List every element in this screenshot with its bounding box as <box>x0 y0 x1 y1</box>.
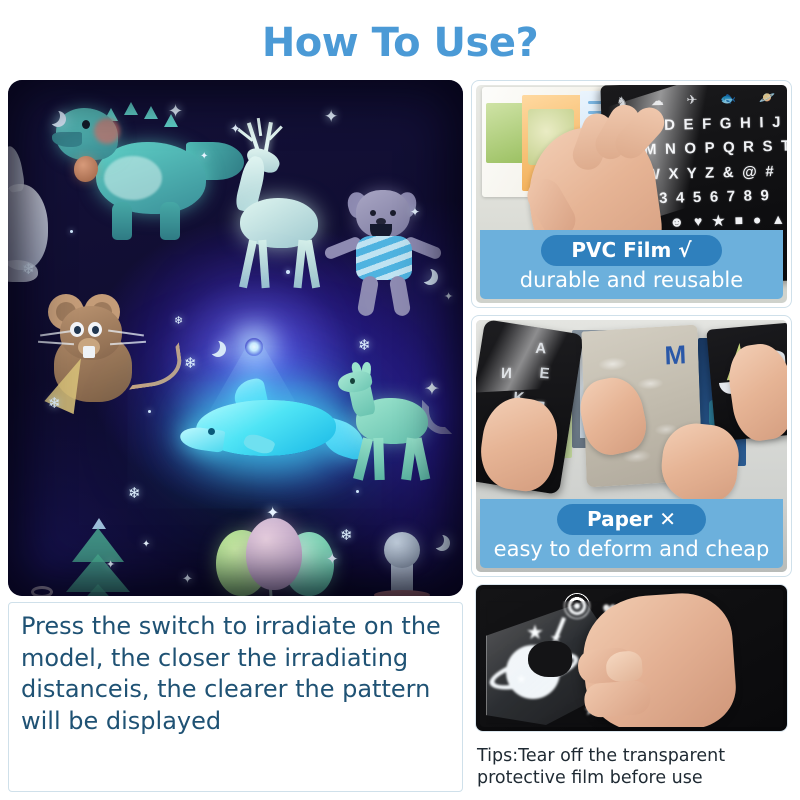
gift-bow-shape <box>31 586 53 596</box>
dinosaur-cheek-shape <box>94 118 120 144</box>
stamp-rim-shape <box>374 590 430 596</box>
pvc-film-photo: ♞ ☁ ✈ 🐟 🪐 A B C D E F G H I J K L M N O … <box>476 85 787 303</box>
green-box-shape <box>486 103 524 163</box>
star-icon: ✦ <box>444 292 453 303</box>
mouse-pupil-shape <box>92 326 99 334</box>
star-icon: ✦ <box>230 122 241 135</box>
paper-letter-m: M <box>664 339 687 371</box>
led-light-source <box>245 338 263 356</box>
dolphin-snout-shape <box>179 425 226 453</box>
page-title: How To Use? <box>0 0 800 72</box>
deer-leg-shape <box>304 240 320 289</box>
mouse-tail-shape <box>123 342 184 389</box>
pvc-film-panel: ♞ ☁ ✈ 🐟 🪐 A B C D E F G H I J K L M N O … <box>471 80 792 308</box>
snowflake-icon: ❄ <box>128 486 141 501</box>
finger-shape <box>583 680 651 719</box>
paper-label-band: Paper ✕ easy to deform and cheap <box>480 499 783 568</box>
star-icon: ✦ <box>142 540 150 550</box>
left-column: ❄ ❄ ❄ ❄ ❄ ❄ ❄ ❄ ✦ ✦ ✦ ✦ ✦ ✦ ✦ ✦ ✦ ✦ ✦ ✦ … <box>8 80 463 792</box>
dog-eye-shape <box>370 210 376 216</box>
dog-shirt-shape <box>356 236 412 280</box>
mouse-tooth-shape <box>83 346 95 358</box>
horse-leg-shape <box>373 438 384 480</box>
cloud-icon: ☁ <box>651 93 664 106</box>
snowflake-icon: ❄ <box>340 528 353 543</box>
horse-leg-shape <box>412 437 431 480</box>
rabbit-body-shape <box>8 184 48 270</box>
dinosaur-spike-shape <box>124 102 138 115</box>
star-icon: ✦ <box>324 108 338 125</box>
dinosaur-spike-shape <box>144 106 158 119</box>
paper-comparison-photo: A E И K П Ч 2 M <box>476 320 787 572</box>
deer-leg-shape <box>239 240 257 289</box>
dog-leg-shape <box>357 275 380 317</box>
right-column: ♞ ☁ ✈ 🐟 🪐 A B C D E F G H I J K L M N O … <box>471 80 792 792</box>
glow-projection-photo: ❄ ❄ ❄ ❄ ❄ ❄ ❄ ❄ ✦ ✦ ✦ ✦ ✦ ✦ ✦ ✦ ✦ ✦ ✦ ✦ … <box>8 80 463 596</box>
fish-icon: 🐟 <box>720 91 737 104</box>
dog-eye-shape <box>390 210 396 216</box>
tips-text: Tips:Tear off the transparent protective… <box>477 745 788 791</box>
snowflake-icon: ❄ <box>358 338 371 353</box>
paper-panel: A E И K П Ч 2 M <box>471 315 792 577</box>
dinosaur-leg-shape <box>160 202 180 240</box>
dolphin-eye-shape <box>208 428 215 435</box>
dinosaur-food-shape <box>74 156 98 182</box>
paper-badge: Paper ✕ <box>557 504 706 535</box>
dinosaur-belly-shape <box>104 156 162 200</box>
snowflake-icon: ❄ <box>184 356 197 371</box>
mouse-pupil-shape <box>74 326 81 334</box>
pvc-film-subtitle: durable and reusable <box>486 268 777 292</box>
tree-tier-shape <box>60 584 136 596</box>
star-icon: ✦ <box>200 152 208 162</box>
moon-icon <box>416 266 432 282</box>
planet-icon: 🪐 <box>759 90 776 103</box>
star-icon: ✦ <box>424 380 440 399</box>
main-photo-caption: Press the switch to irradiate on the mod… <box>8 602 463 792</box>
fingernail-shape <box>605 650 643 682</box>
sparkle-dot <box>148 410 151 413</box>
sparkle-dot <box>70 230 73 233</box>
moon-icon <box>204 338 220 354</box>
tips-panel: ♥ ★ ★ ★ ★ ★ Tips:Tear off the transparen… <box>471 584 792 792</box>
star-icon: ✦ <box>326 552 339 567</box>
sparkle-dot <box>356 490 359 493</box>
moon-icon <box>428 532 444 548</box>
star-icon: ✦ <box>266 506 279 522</box>
star-icon: ✦ <box>106 560 115 571</box>
sparkle-dot <box>286 270 290 274</box>
dinosaur-jaw-shape <box>52 132 82 147</box>
snowflake-icon: ❄ <box>48 396 61 411</box>
pvc-film-label-band: PVC Film √ durable and reusable <box>480 230 783 299</box>
star-icon: ✦ <box>182 572 193 585</box>
protective-film-photo: ♥ ★ ★ ★ ★ ★ <box>475 584 788 732</box>
snowflake-icon: ❄ <box>22 262 35 277</box>
dinosaur-eye-shape <box>82 120 90 129</box>
balloon-shape <box>246 518 302 590</box>
star-icon: ✦ <box>410 206 420 218</box>
pvc-film-badge: PVC Film √ <box>541 235 721 266</box>
dog-leg-shape <box>389 275 412 317</box>
pinched-card-corner <box>528 641 572 677</box>
deer-antler-branch-shape <box>257 118 262 136</box>
snowflake-icon: ❄ <box>174 316 183 327</box>
horse-eye-shape <box>350 378 355 384</box>
stamp-knob-shape <box>384 532 420 568</box>
plane-icon: ✈ <box>686 92 697 105</box>
moon-icon <box>44 108 60 124</box>
star-icon: ✦ <box>168 102 183 120</box>
content-layout: ❄ ❄ ❄ ❄ ❄ ❄ ❄ ❄ ✦ ✦ ✦ ✦ ✦ ✦ ✦ ✦ ✦ ✦ ✦ ✦ … <box>8 80 792 792</box>
paper-subtitle: easy to deform and cheap <box>486 537 777 561</box>
dinosaur-leg-shape <box>112 202 132 240</box>
black-stencil-card: ♥ ★ ★ ★ ★ ★ <box>480 589 783 727</box>
